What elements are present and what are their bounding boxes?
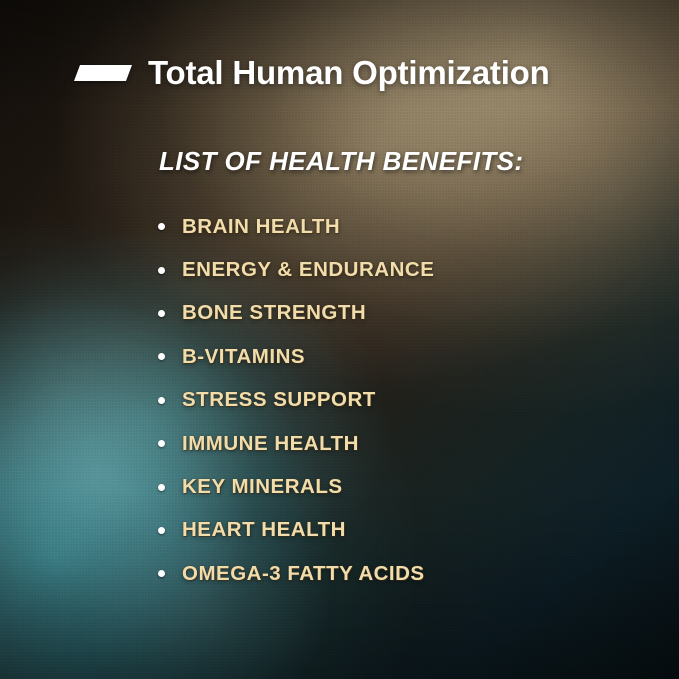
bullet-icon [158,527,165,534]
list-item-label: KEY MINERALS [182,475,343,499]
list-item-label: OMEGA-3 FATTY ACIDS [182,562,425,586]
list-item-label: BONE STRENGTH [182,301,366,325]
slanted-bar-logo-icon [74,64,132,82]
list-item: OMEGA-3 FATTY ACIDS [158,552,434,595]
list-item: IMMUNE HEALTH [158,422,434,465]
list-item-label: IMMUNE HEALTH [182,432,359,456]
list-item-label: STRESS SUPPORT [182,388,376,412]
list-item-label: HEART HEALTH [182,518,346,542]
list-item: STRESS SUPPORT [158,379,434,422]
list-item: B-VITAMINS [158,335,434,378]
list-item: HEART HEALTH [158,509,434,552]
list-item-label: ENERGY & ENDURANCE [182,258,434,282]
page-title: Total Human Optimization [148,54,550,92]
header: Total Human Optimization [74,54,550,92]
benefits-list: BRAIN HEALTH ENERGY & ENDURANCE BONE STR… [158,205,434,596]
list-item: BONE STRENGTH [158,292,434,335]
bullet-icon [158,440,165,447]
bullet-icon [158,353,165,360]
list-item: ENERGY & ENDURANCE [158,248,434,291]
content-layer: Total Human Optimization LIST OF HEALTH … [0,0,679,679]
bullet-icon [158,267,165,274]
list-item: BRAIN HEALTH [158,205,434,248]
bullet-icon [158,397,165,404]
bullet-icon [158,223,165,230]
bullet-icon [158,484,165,491]
section-subtitle: LIST OF HEALTH BENEFITS: [159,146,523,177]
bullet-icon [158,570,165,577]
list-item: KEY MINERALS [158,465,434,508]
bullet-icon [158,310,165,317]
promo-graphic: Total Human Optimization LIST OF HEALTH … [0,0,679,679]
list-item-label: BRAIN HEALTH [182,215,340,239]
list-item-label: B-VITAMINS [182,345,305,369]
